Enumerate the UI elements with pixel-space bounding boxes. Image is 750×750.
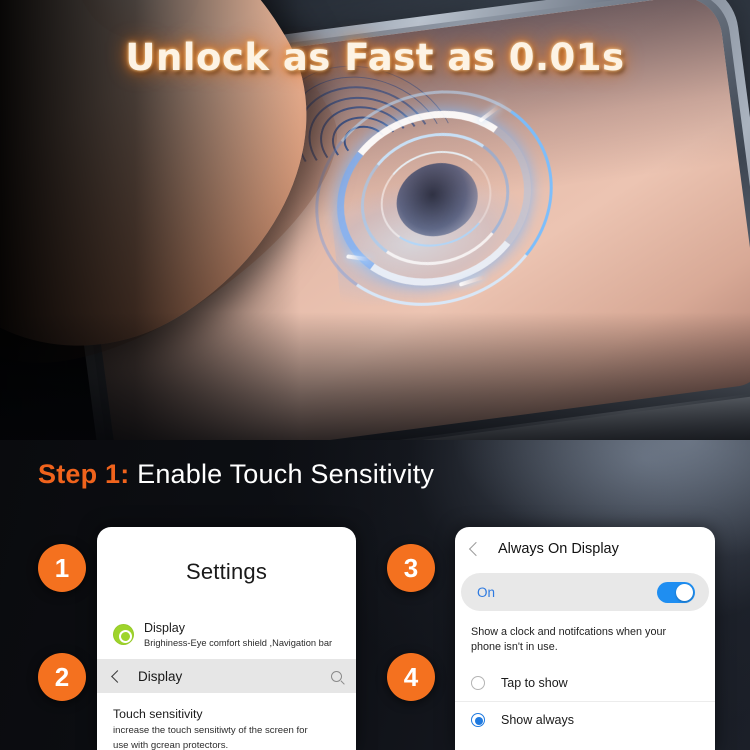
settings-item-display-subtitle: Brighiness-Eye comfort shield ,Navigatio…: [144, 637, 332, 650]
step-badge-4: 4: [387, 653, 435, 701]
toggle-knob: [676, 584, 693, 601]
settings-item-display-title: Display: [144, 621, 332, 636]
aod-toggle-switch[interactable]: [657, 582, 695, 603]
step-title-label: Enable Touch Sensitivity: [137, 459, 434, 489]
aod-toggle-row[interactable]: On: [461, 573, 709, 611]
step-badge-2: 2: [38, 653, 86, 701]
aod-description: Show a clock and notifcations when your …: [455, 611, 715, 655]
chevron-left-icon[interactable]: [469, 542, 483, 556]
display-subheader-label: Display: [138, 669, 182, 684]
aod-description-line2: phone isn't in use.: [471, 640, 697, 655]
aod-option-label: Show always: [501, 713, 574, 727]
hero-headline: Unlock as Fast as 0.01s: [0, 36, 750, 79]
touch-sensitivity-desc-line2: use with gcrean protectors.: [113, 739, 340, 750]
touch-sensitivity-item[interactable]: Touch sensitivity increase the touch sen…: [97, 693, 356, 750]
radio-button-unchecked-icon[interactable]: [471, 676, 485, 690]
chevron-left-icon[interactable]: [111, 670, 124, 683]
touch-sensitivity-desc-line1: increase the touch sensitiwty of the scr…: [113, 724, 340, 737]
display-brightness-icon: [113, 624, 134, 645]
aod-description-line1: Show a clock and notifcations when your: [471, 625, 697, 640]
page-title: Step 1: Enable Touch Sensitivity: [38, 459, 434, 490]
step-badge-1: 1: [38, 544, 86, 592]
radio-button-checked-icon[interactable]: [471, 713, 485, 727]
aod-toggle-label: On: [477, 585, 495, 600]
settings-item-display[interactable]: Display Brighiness-Eye comfort shield ,N…: [97, 621, 356, 650]
step-number-label: Step 1:: [38, 459, 129, 489]
fingerprint-hologram-icon: [289, 55, 580, 341]
aod-header-title: Always On Display: [498, 541, 619, 557]
settings-screenshot-panel: Settings Display Brighiness-Eye comfort …: [97, 527, 356, 750]
aod-header: Always On Display: [455, 531, 715, 567]
aod-option-show-always[interactable]: Show always: [455, 701, 715, 737]
always-on-display-screenshot-panel: Always On Display On Show a clock and no…: [455, 527, 715, 750]
promo-page: Unlock as Fast as 0.01s Step 1: Enable T…: [0, 0, 750, 750]
display-subheader: Display: [97, 659, 356, 693]
touch-sensitivity-title: Touch sensitivity: [113, 706, 340, 722]
aod-option-label: Tap to show: [501, 676, 568, 690]
search-icon[interactable]: [331, 671, 342, 682]
step-badge-3: 3: [387, 544, 435, 592]
aod-option-tap-to-show[interactable]: Tap to show: [455, 665, 715, 701]
hero-product-image: Unlock as Fast as 0.01s: [0, 0, 750, 462]
settings-title: Settings: [97, 559, 356, 585]
